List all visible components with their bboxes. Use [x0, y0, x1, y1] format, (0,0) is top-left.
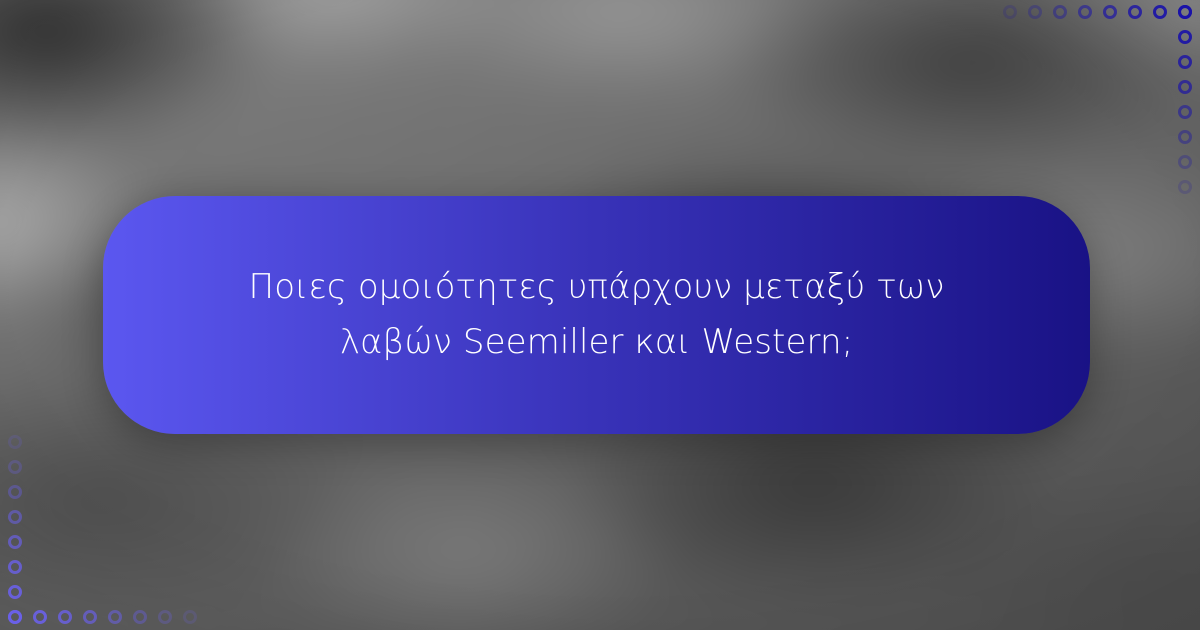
dot-tr-row-3 [1078, 5, 1092, 19]
dot-bl-col-5 [8, 560, 22, 574]
dot-tr-col-5 [1178, 130, 1192, 144]
dot-bl-row-5 [133, 610, 147, 624]
dot-tr-row-6 [1153, 5, 1167, 19]
dot-column-bottom-left [8, 435, 22, 624]
dot-tr-col-4 [1178, 105, 1192, 119]
quote-card-graphic: Ποιες ομοιότητες υπάρχουν μεταξύ των λαβ… [0, 0, 1200, 630]
dot-tr-col-6 [1178, 155, 1192, 169]
dot-tr-row-0 [1003, 5, 1017, 19]
dot-column-top-right [1178, 5, 1192, 194]
dot-bl-col-6 [8, 585, 22, 599]
dot-bl-row-4 [108, 610, 122, 624]
dot-tr-col-0 [1178, 5, 1192, 19]
dot-row-top-right [1003, 5, 1192, 19]
dot-tr-col-1 [1178, 30, 1192, 44]
dot-tr-col-3 [1178, 80, 1192, 94]
dot-grid-top-right [990, 0, 1200, 205]
quote-question-text: Ποιες ομοιότητες υπάρχουν μεταξύ των λαβ… [249, 260, 945, 370]
dot-bl-col-3 [8, 510, 22, 524]
dot-bl-row-2 [58, 610, 72, 624]
dot-bl-row-6 [158, 610, 172, 624]
dot-tr-row-4 [1103, 5, 1117, 19]
dot-tr-row-2 [1053, 5, 1067, 19]
dot-grid-bottom-left [0, 425, 215, 630]
dot-bl-row-1 [33, 610, 47, 624]
dot-bl-col-0 [8, 435, 22, 449]
dot-bl-col-2 [8, 485, 22, 499]
dot-bl-col-1 [8, 460, 22, 474]
dot-bl-col-7 [8, 610, 22, 624]
dot-tr-col-7 [1178, 180, 1192, 194]
dot-bl-row-7 [183, 610, 197, 624]
dot-bl-row-3 [83, 610, 97, 624]
dot-bl-col-4 [8, 535, 22, 549]
dot-tr-row-1 [1028, 5, 1042, 19]
dot-row-bottom-left [8, 610, 197, 624]
quote-card: Ποιες ομοιότητες υπάρχουν μεταξύ των λαβ… [103, 196, 1090, 434]
dot-tr-col-2 [1178, 55, 1192, 69]
dot-tr-row-5 [1128, 5, 1142, 19]
